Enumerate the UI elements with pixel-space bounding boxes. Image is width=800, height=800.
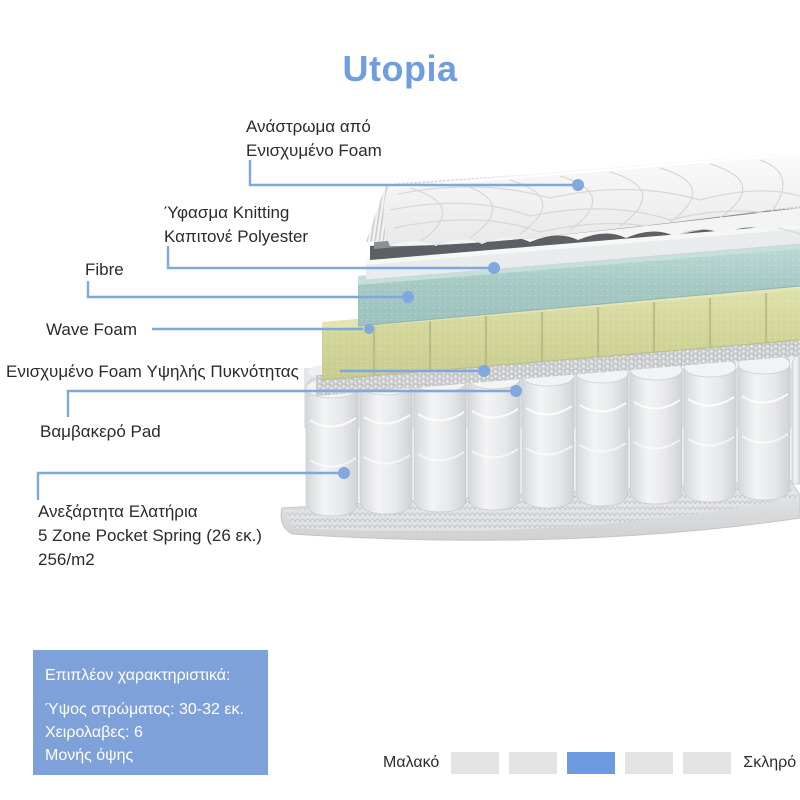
callout-line: Fibre bbox=[85, 260, 124, 279]
callout-line: Ενισχυμένο Foam bbox=[246, 141, 382, 160]
firmness-scale: Μαλακό Σκληρό bbox=[383, 750, 783, 776]
firmness-segment-1[interactable] bbox=[451, 752, 499, 774]
feature-item-height: Ύψος στρώματος: 30-32 εκ. bbox=[45, 698, 268, 721]
callout-line: Ενισχυμένο Foam Υψηλής Πυκνότητας bbox=[6, 362, 299, 381]
firmness-segment-2[interactable] bbox=[509, 752, 557, 774]
mattress-illustration bbox=[270, 150, 800, 560]
callout-pocket-spring: Ανεξάρτητα Ελατήρια5 Zone Pocket Spring … bbox=[38, 500, 262, 572]
callout-line: Wave Foam bbox=[46, 320, 137, 339]
feature-item-handles: Χειρολαβες: 6 bbox=[45, 721, 268, 744]
feature-item-sides: Μονής όψης bbox=[45, 744, 268, 767]
firmness-track[interactable] bbox=[451, 752, 731, 774]
callout-anastroma-foam: Ανάστρωμα απόΕνισχυμένο Foam bbox=[246, 115, 382, 163]
callout-cotton-pad: Βαμβακερό Pad bbox=[40, 420, 161, 444]
callout-fibre: Fibre bbox=[85, 258, 124, 282]
firmness-segment-4[interactable] bbox=[625, 752, 673, 774]
firmness-segment-5[interactable] bbox=[683, 752, 731, 774]
callout-line: Καπιτονέ Polyester bbox=[164, 227, 308, 246]
callout-line: 256/m2 bbox=[38, 550, 95, 569]
callout-high-density-foam: Ενισχυμένο Foam Υψηλής Πυκνότητας bbox=[6, 360, 299, 384]
features-box: Επιπλέον χαρακτηριστικά: Ύψος στρώματος:… bbox=[33, 650, 268, 775]
features-title: Επιπλέον χαρακτηριστικά: bbox=[45, 664, 268, 687]
callout-line: Ύφασμα Knitting bbox=[164, 203, 289, 222]
callout-line: Βαμβακερό Pad bbox=[40, 422, 161, 441]
callout-wave-foam: Wave Foam bbox=[46, 318, 137, 342]
callout-yfasma-knitting: Ύφασμα KnittingΚαπιτονέ Polyester bbox=[164, 201, 308, 249]
infographic-page: Utopia bbox=[0, 0, 800, 800]
callout-line: Ανεξάρτητα Ελατήρια bbox=[38, 502, 198, 521]
page-title: Utopia bbox=[0, 48, 800, 90]
firmness-hard-label: Σκληρό bbox=[743, 754, 796, 772]
firmness-segment-3[interactable] bbox=[567, 752, 615, 774]
firmness-soft-label: Μαλακό bbox=[383, 754, 439, 772]
callout-line: 5 Zone Pocket Spring (26 εκ.) bbox=[38, 526, 262, 545]
callout-line: Ανάστρωμα από bbox=[246, 117, 371, 136]
